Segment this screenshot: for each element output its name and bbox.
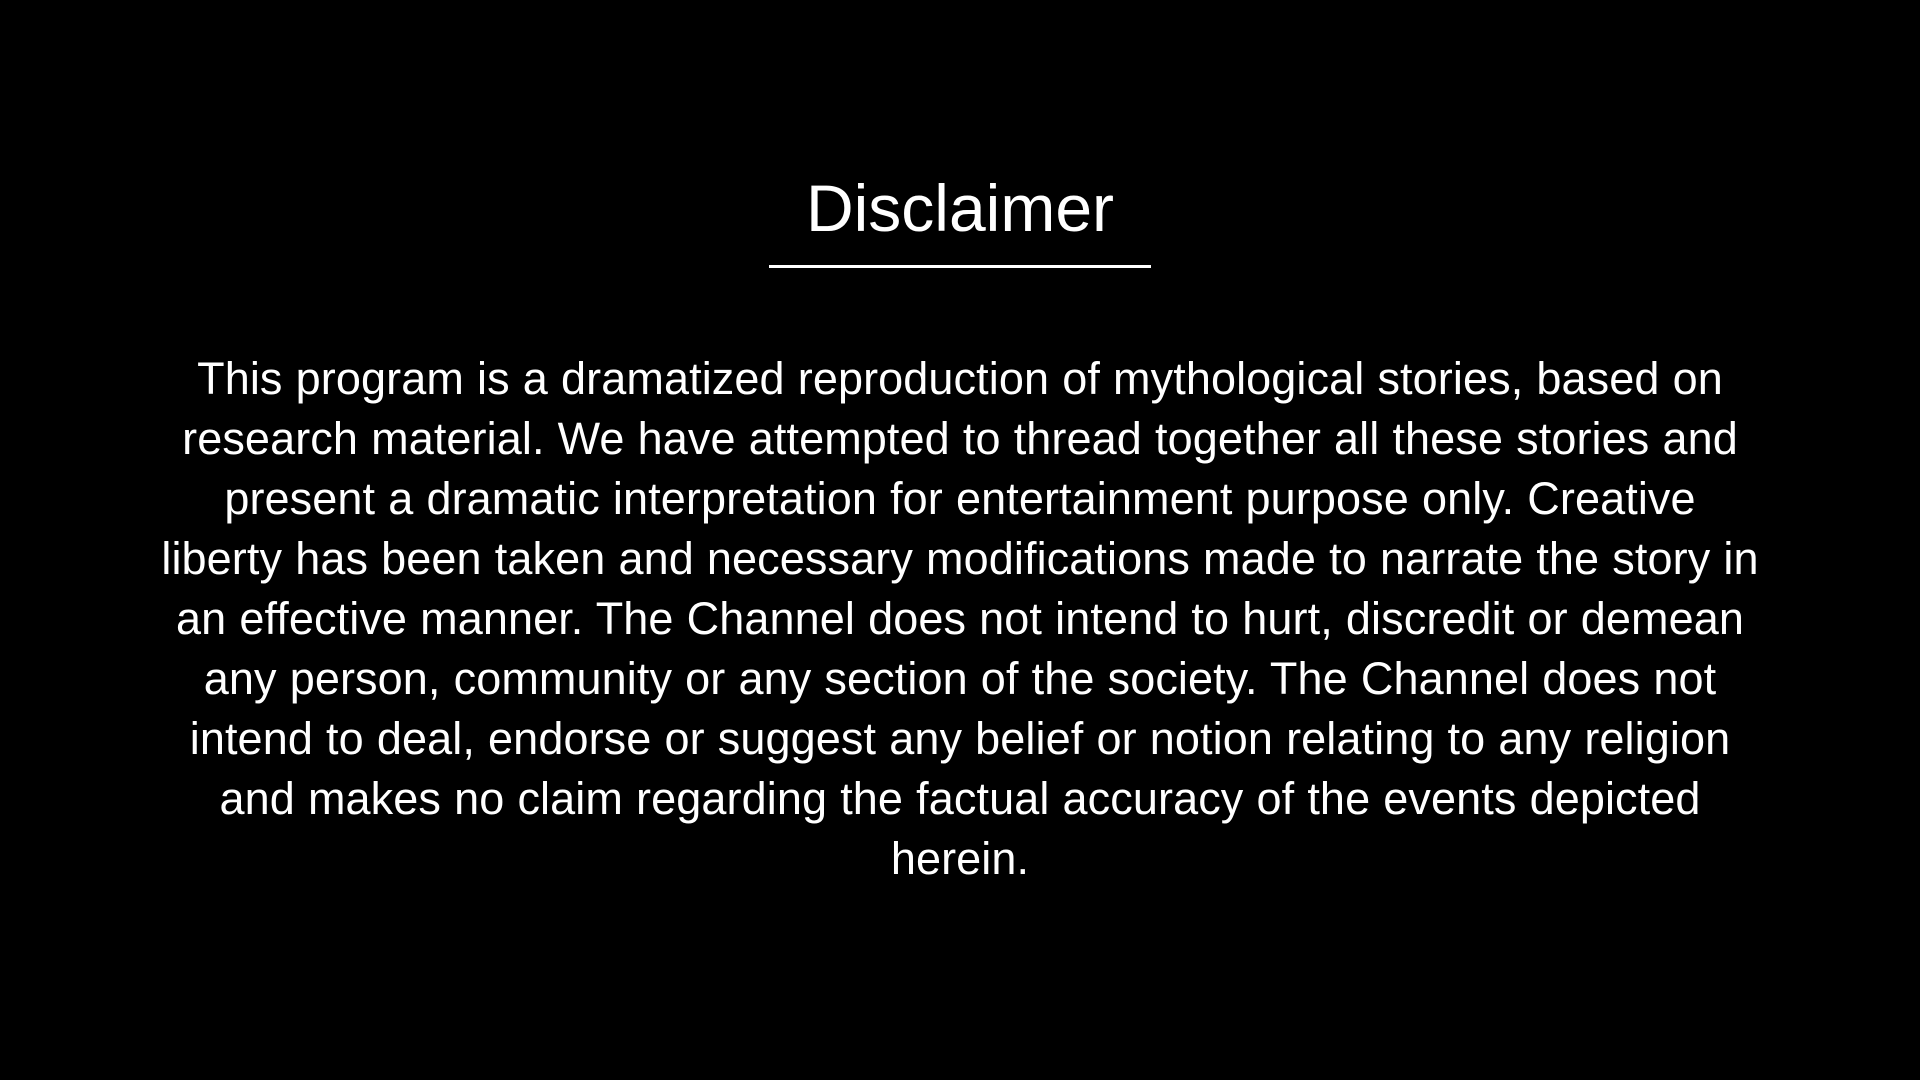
page-title: Disclaimer (806, 172, 1114, 244)
disclaimer-slide: Disclaimer This program is a dramatized … (0, 0, 1920, 1080)
disclaimer-body-text: This program is a dramatized reproductio… (160, 349, 1760, 889)
disclaimer-body-block: This program is a dramatized reproductio… (160, 304, 1760, 934)
disclaimer-heading-block: Disclaimer (725, 172, 1195, 268)
disclaimer-content: Disclaimer This program is a dramatized … (0, 0, 1920, 1080)
title-underline-divider (769, 265, 1151, 268)
